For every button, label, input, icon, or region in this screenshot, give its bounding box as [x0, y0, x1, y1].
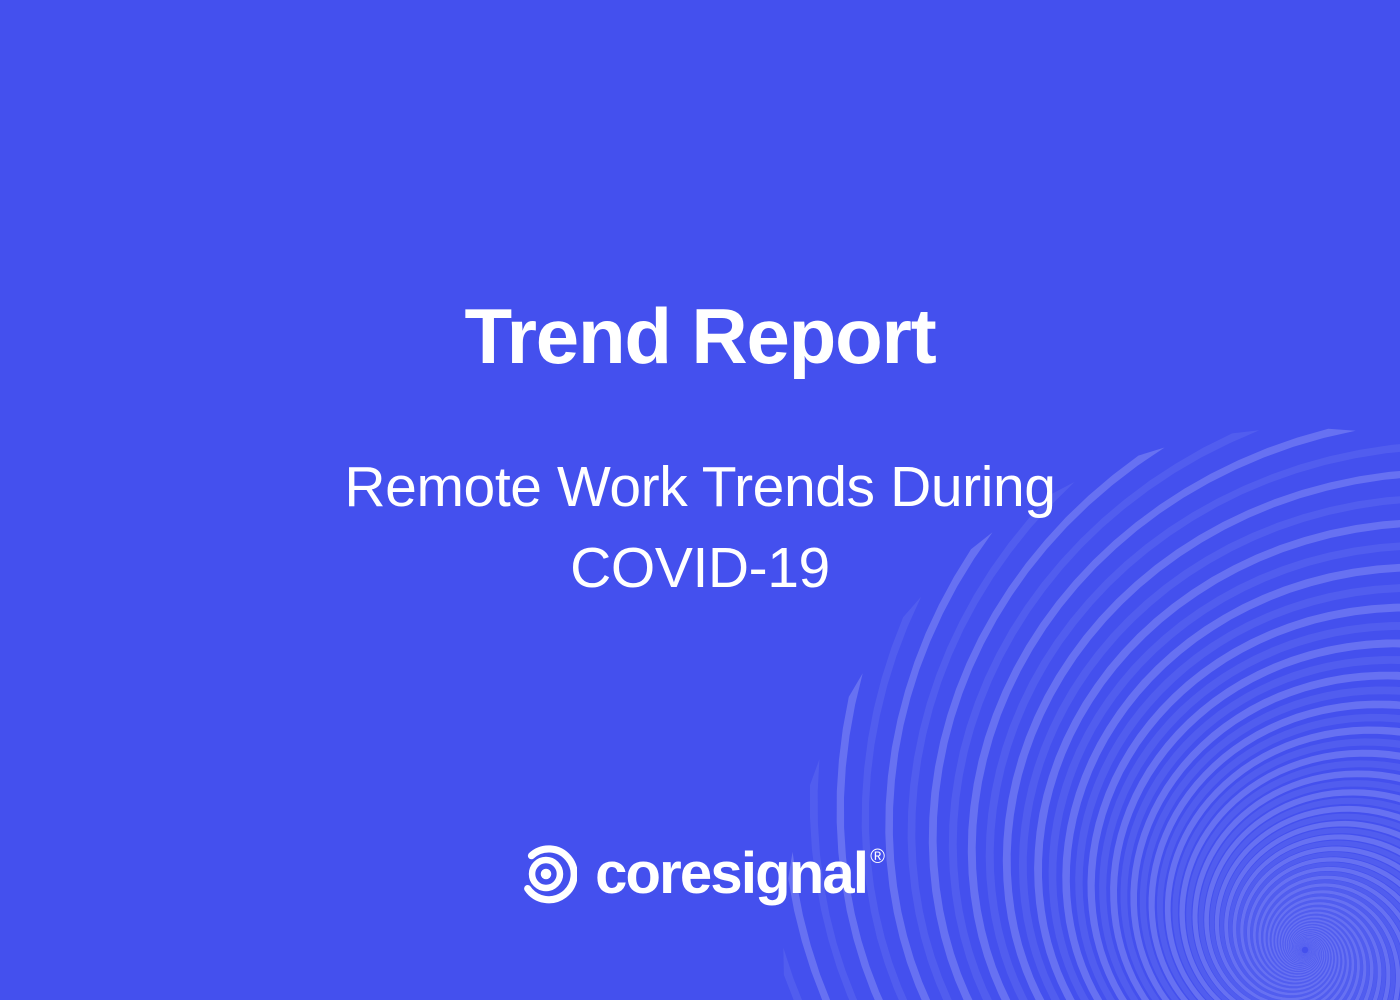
subtitle-block: Remote Work Trends During COVID-19 [0, 447, 1400, 609]
cover-content: Trend Report Remote Work Trends During C… [0, 0, 1400, 1000]
subtitle-line-1: Remote Work Trends During [0, 447, 1400, 528]
coresignal-spiral-logo-icon [515, 843, 577, 905]
brand-wordmark: coresignal [595, 843, 867, 905]
logo-inner: coresignal ® [515, 843, 885, 905]
subtitle-line-2: COVID-19 [0, 528, 1400, 609]
registered-trademark-symbol: ® [870, 847, 885, 867]
report-cover-page: Trend Report Remote Work Trends During C… [0, 0, 1400, 1000]
page-title: Trend Report [0, 296, 1400, 377]
brand-logo-lockup: coresignal ® [0, 843, 1400, 905]
title-block: Trend Report [0, 296, 1400, 377]
logo-wordmark-wrap: coresignal ® [595, 843, 885, 905]
